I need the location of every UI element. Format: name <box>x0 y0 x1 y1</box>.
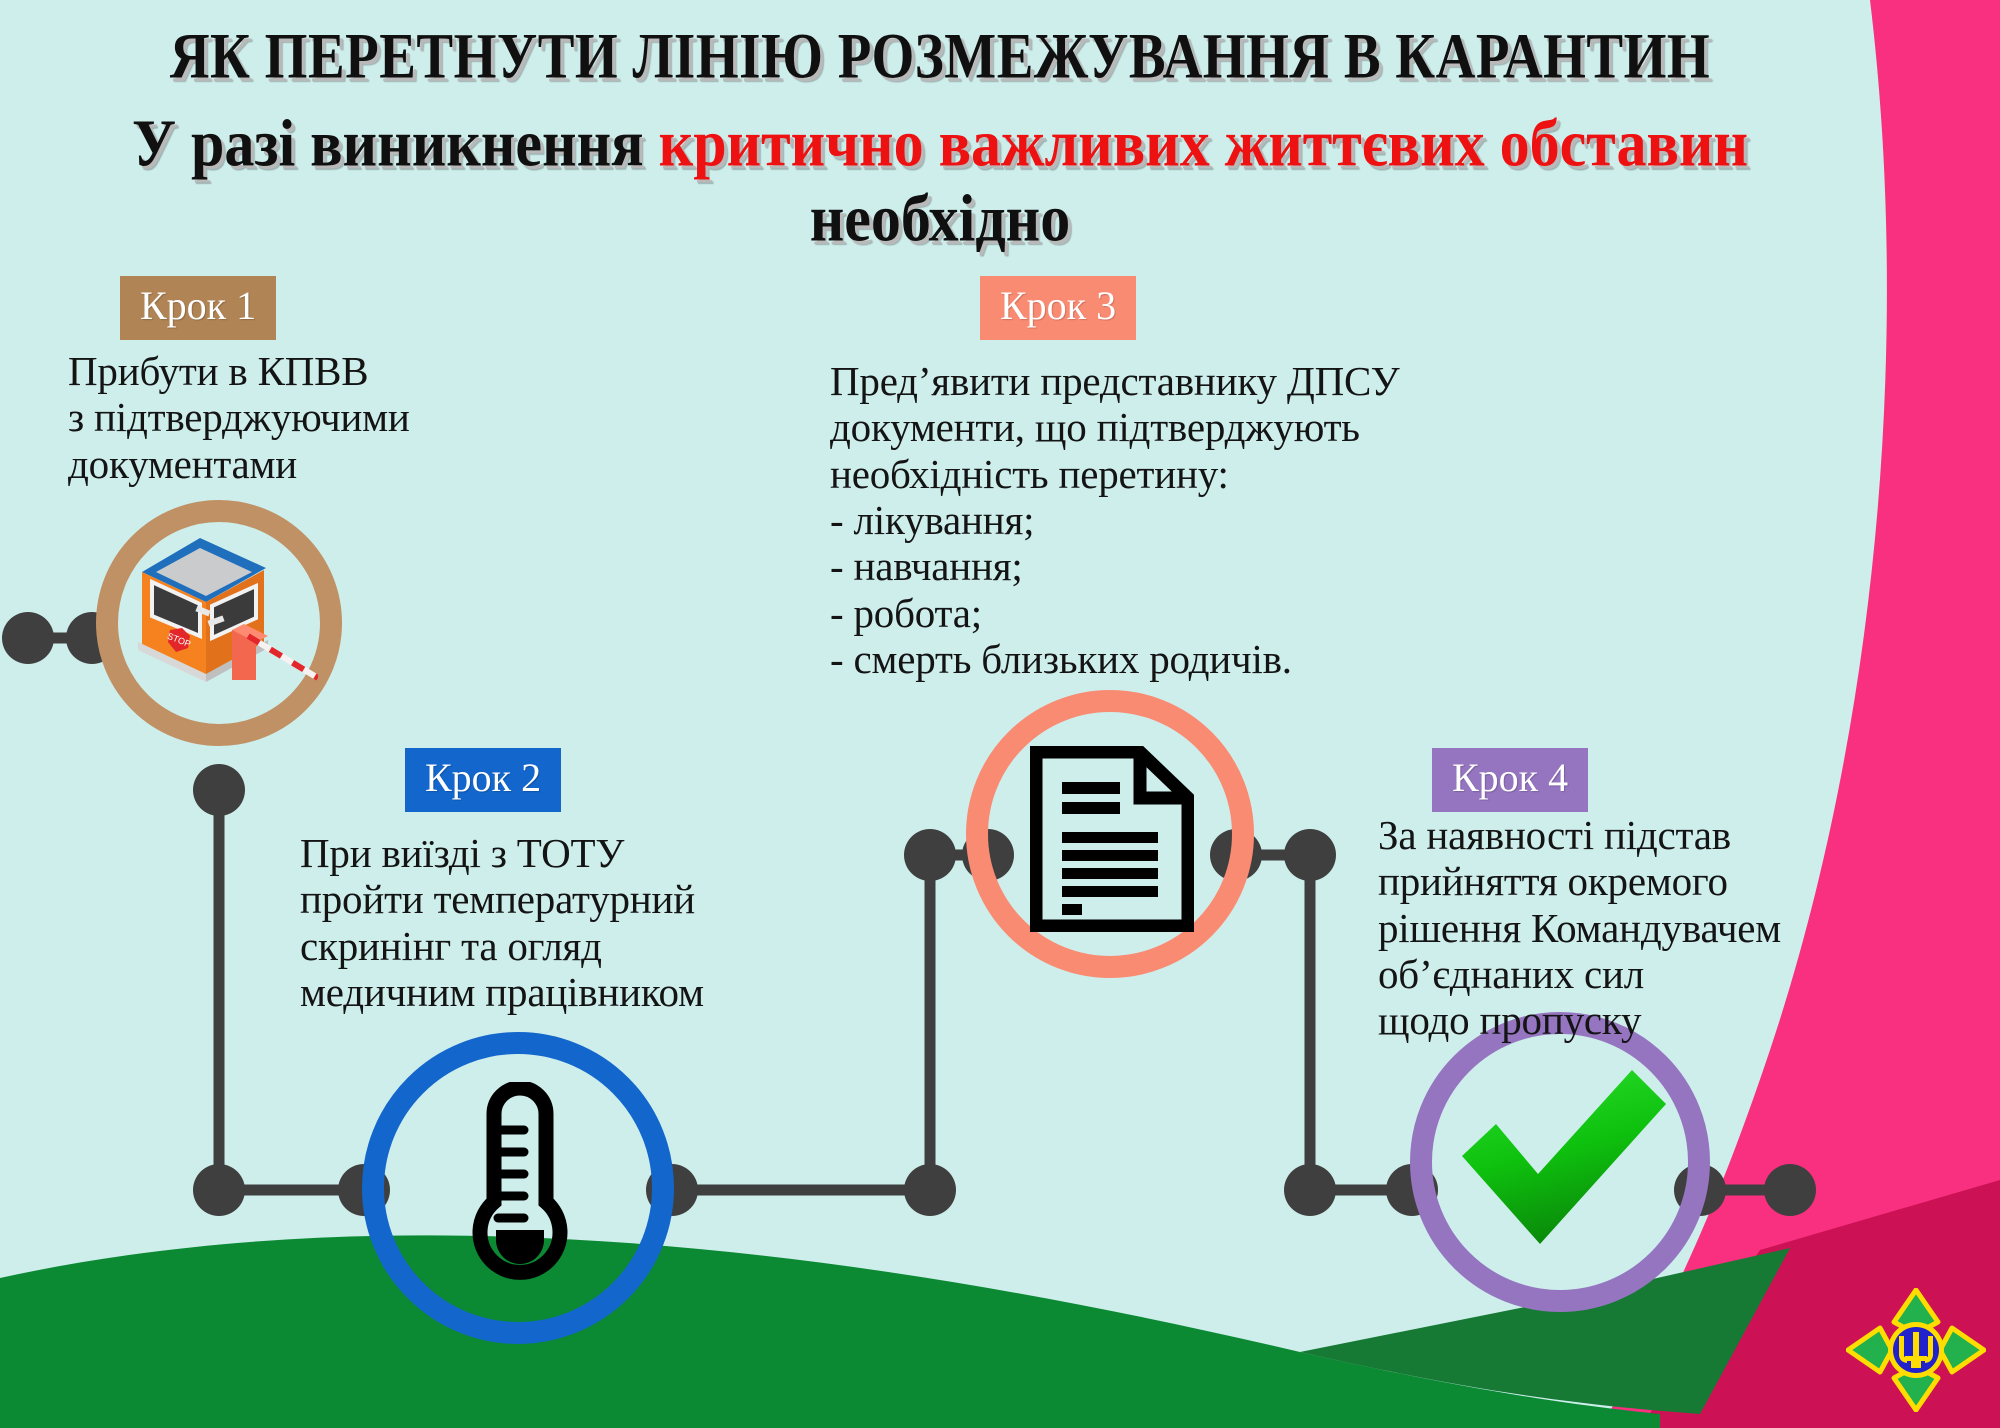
connector-dot-d <box>193 1164 245 1216</box>
connector-dot-a <box>2 612 54 664</box>
step-1-badge[interactable]: Крок 1 <box>120 276 276 340</box>
step-1-text: Прибути в КПВВ з підтверджуючими докумен… <box>68 348 628 487</box>
step-4-text: За наявності підстав прийняття окремого … <box>1378 812 1958 1044</box>
subtitle-prefix: У разі виникнення <box>132 106 659 180</box>
connector-dot-o <box>1764 1164 1816 1216</box>
state-border-guard-service-emblem <box>1846 1288 1986 1412</box>
step-2-text: При виїзді з ТОТУ пройти температурний с… <box>300 830 920 1015</box>
page-title: ЯК ПЕРЕТНУТИ ЛІНІЮ РОЗМЕЖУВАННЯ В КАРАНТ… <box>0 22 1880 91</box>
green-checkmark-icon <box>1452 1068 1674 1254</box>
subtitle-highlight: критично важливих життєвих обставин <box>659 106 1748 180</box>
title-block: ЯК ПЕРЕТНУТИ ЛІНІЮ РОЗМЕЖУВАННЯ В КАРАНТ… <box>0 22 1880 241</box>
connector-dot-l <box>1284 1164 1336 1216</box>
checkpoint-booth-icon: STOP <box>128 530 318 720</box>
connector-dot-c <box>193 764 245 816</box>
connector-dot-g <box>904 1164 956 1216</box>
step-3-text: Пред’явити представнику ДПСУ документи, … <box>830 358 1590 682</box>
step-3-badge[interactable]: Крок 3 <box>980 276 1136 340</box>
step-4-badge[interactable]: Крок 4 <box>1432 748 1588 812</box>
page-subtitle: У разі виникнення критично важливих житт… <box>0 106 1880 257</box>
step-2-badge[interactable]: Крок 2 <box>405 748 561 812</box>
document-icon <box>1030 746 1194 932</box>
thermometer-icon <box>452 1082 588 1294</box>
connector-dot-k <box>1284 829 1336 881</box>
subtitle-line3: необхідно <box>0 182 1880 257</box>
infographic-canvas: ЯК ПЕРЕТНУТИ ЛІНІЮ РОЗМЕЖУВАННЯ В КАРАНТ… <box>0 0 2000 1428</box>
